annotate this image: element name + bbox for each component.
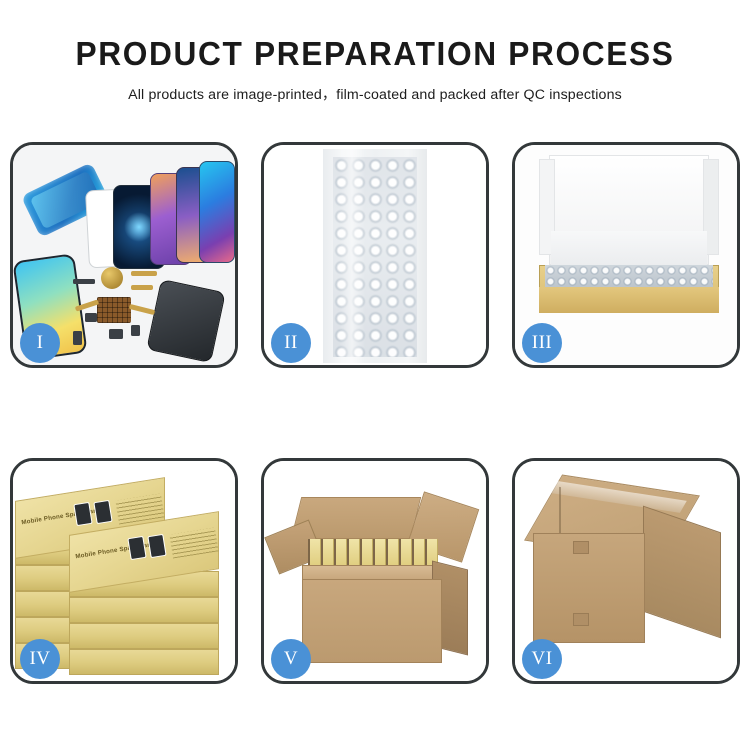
process-card-4: Mobile Phone Spare Parts Mobile Phone Sp… [10, 458, 238, 684]
box-phone-graphic [73, 502, 92, 526]
box-phone-graphic [127, 536, 146, 560]
small-part-image [131, 325, 140, 336]
carton-front-image [302, 579, 442, 663]
process-card-2: II [261, 142, 489, 368]
process-grid: I II [10, 142, 740, 684]
carton-flap-tab [573, 613, 589, 626]
stacked-box [69, 597, 219, 623]
vibrator-motor-part-image [101, 267, 123, 289]
small-part-image [73, 331, 82, 345]
bubble-wrapped-product-image [323, 149, 427, 363]
small-part-image [85, 313, 97, 322]
step-badge-3: III [522, 323, 562, 363]
process-card-3: III [512, 142, 740, 368]
step-badge-4: IV [20, 639, 60, 679]
carton-flap-tab [573, 541, 589, 554]
page-title: PRODUCT PREPARATION PROCESS [15, 36, 735, 73]
flex-cable-image [131, 271, 157, 276]
step-badge-6: VI [522, 639, 562, 679]
box-phone-graphic [93, 500, 112, 524]
preparation-process-page: PRODUCT PREPARATION PROCESS All products… [0, 0, 750, 750]
carton-seam-image [559, 487, 561, 539]
sealed-carton-front-image [533, 533, 645, 643]
bubble-highlight [339, 149, 365, 363]
small-part-image [109, 329, 123, 339]
chip-component-image [97, 297, 131, 323]
process-card-5: V [261, 458, 489, 684]
process-row-1: I II [10, 142, 740, 368]
page-subtitle: All products are image-printed，film-coat… [0, 84, 750, 104]
flex-cable-image [131, 285, 153, 290]
step-badge-1: I [20, 323, 60, 363]
small-part-image [73, 279, 95, 284]
stacked-box [69, 649, 219, 675]
header: PRODUCT PREPARATION PROCESS All products… [0, 36, 750, 104]
process-row-2: Mobile Phone Spare Parts Mobile Phone Sp… [10, 458, 740, 684]
process-card-6: VI [512, 458, 740, 684]
blue-phone-screen-image [199, 161, 235, 263]
stacked-box [69, 623, 219, 649]
process-card-1: I [10, 142, 238, 368]
step-badge-5: V [271, 639, 311, 679]
box-phone-graphic [147, 534, 166, 558]
kraft-box-front-image [539, 287, 719, 313]
step-badge-2: II [271, 323, 311, 363]
